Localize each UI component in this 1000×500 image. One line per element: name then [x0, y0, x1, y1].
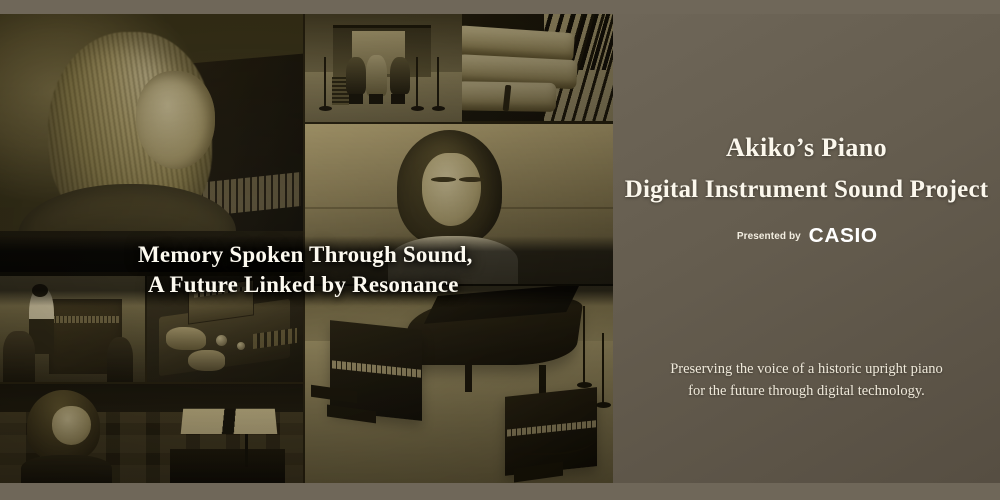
pianist-portrait-scene: [0, 14, 303, 272]
concert-hall-pianos-scene: [305, 286, 613, 483]
presented-by-label: Presented by: [737, 231, 801, 242]
title-block: Akiko’s Piano Digital Instrument Sound P…: [613, 132, 1000, 205]
frame-top-border: [0, 0, 1000, 14]
project-title: Akiko’s Piano: [613, 132, 1000, 165]
frame-bottom-border: [0, 483, 1000, 500]
overlay-headline: Memory Spoken Through Sound, A Future Li…: [0, 236, 613, 306]
photo-pianist-in-auditorium: [0, 384, 303, 483]
photo-collage: Memory Spoken Through Sound, A Future Li…: [0, 14, 613, 483]
overlay-headline-line-2: A Future Linked by Resonance: [0, 270, 613, 300]
tagline-line-2: for the future through digital technolog…: [613, 380, 1000, 402]
presented-by-block: Presented by CASIO: [613, 226, 1000, 246]
photo-concert-hall-pianos: [305, 286, 613, 483]
overlay-headline-line-1: Memory Spoken Through Sound,: [0, 240, 613, 270]
hands-on-keyboard-scene: [462, 14, 613, 121]
tagline: Preserving the voice of a historic uprig…: [613, 358, 1000, 403]
stage-rehearsal-scene: [305, 14, 462, 122]
casio-logo: CASIO: [809, 226, 878, 246]
akikos-piano-banner: Memory Spoken Through Sound, A Future Li…: [0, 0, 1000, 500]
title-panel: Akiko’s Piano Digital Instrument Sound P…: [613, 14, 1000, 483]
photo-hands-on-keyboard: [462, 14, 613, 121]
project-subtitle: Digital Instrument Sound Project: [613, 174, 1000, 206]
tagline-line-1: Preserving the voice of a historic uprig…: [613, 358, 1000, 380]
photo-stage-rehearsal: [305, 14, 462, 122]
pianist-in-auditorium-scene: [0, 384, 303, 483]
photo-pianist-portrait: [0, 14, 303, 272]
